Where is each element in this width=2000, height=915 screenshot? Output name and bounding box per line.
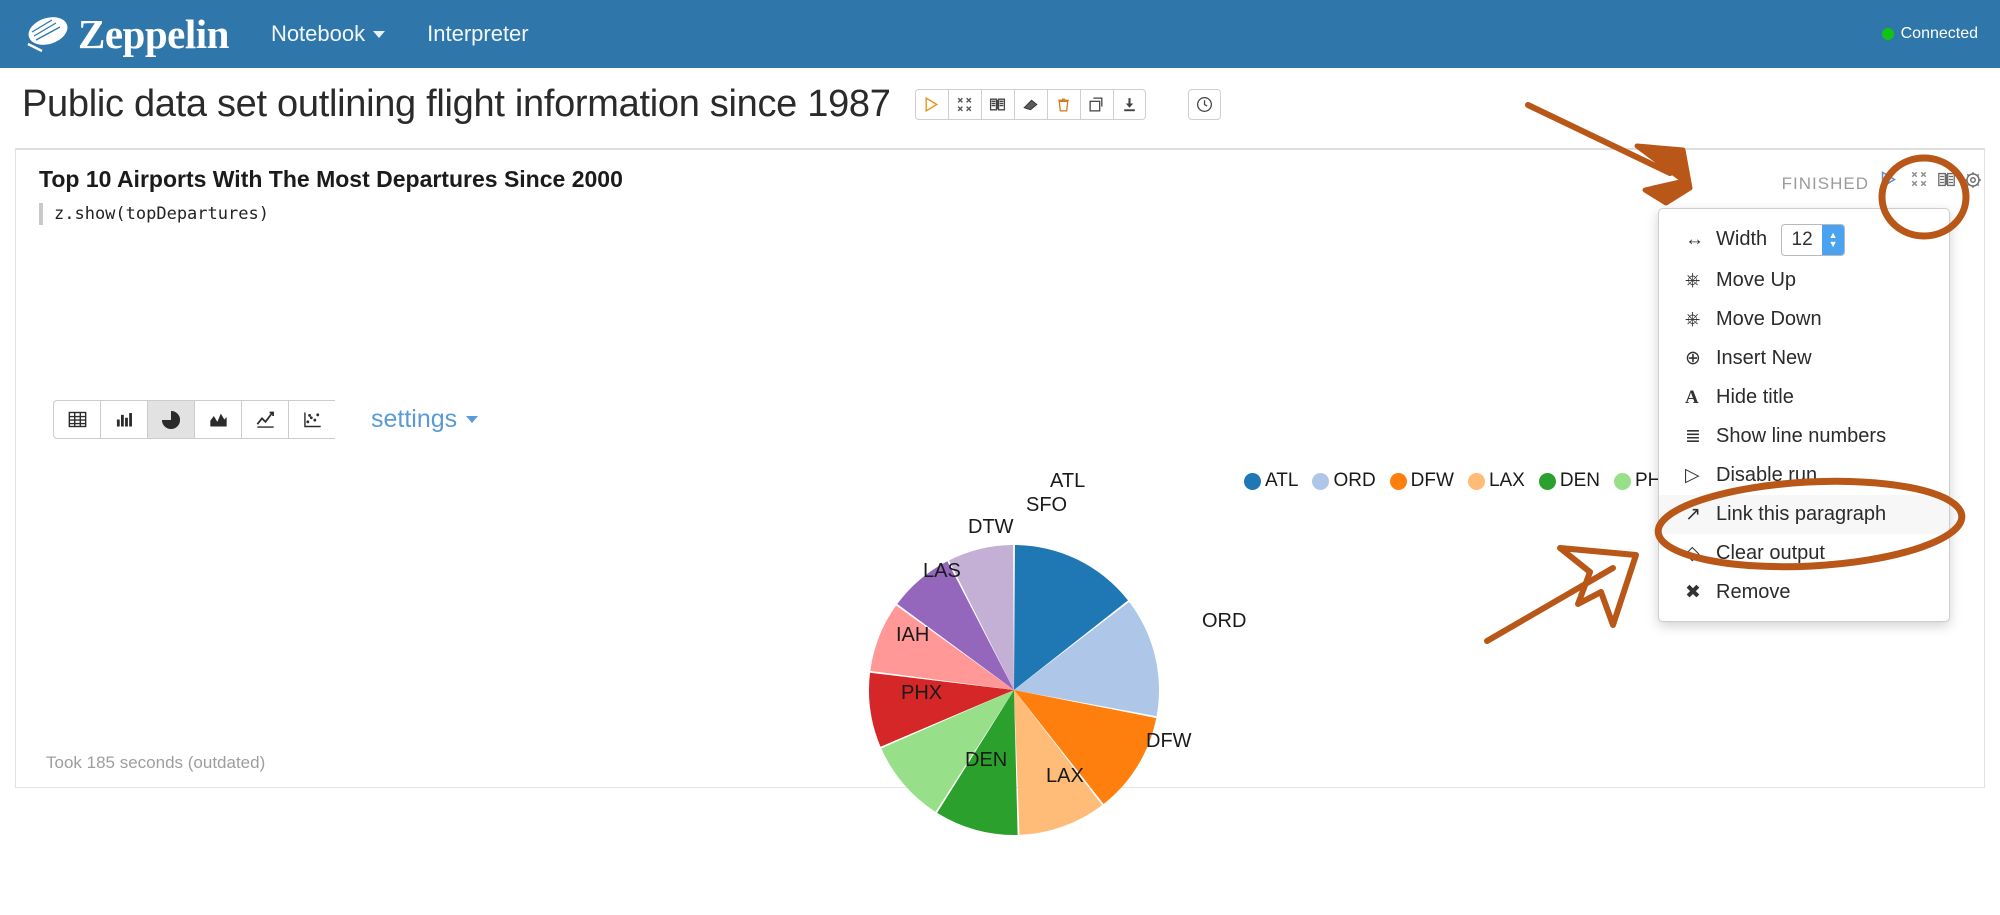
legend-item[interactable]: LAX	[1468, 470, 1525, 492]
chevron-down-icon	[373, 31, 385, 38]
menu-item-label: Link this paragraph	[1716, 503, 1886, 526]
nav-links: Notebook Interpreter	[271, 21, 571, 47]
clone-note-button[interactable]	[1080, 89, 1113, 120]
legend-item[interactable]: ORD	[1312, 470, 1375, 492]
paragraph-run-button[interactable]	[1879, 170, 1898, 189]
menu-item-disable-run[interactable]: ▷ Disable run	[1659, 456, 1949, 495]
collapse-arrows-icon	[956, 96, 973, 113]
scatter-chart-icon	[302, 409, 323, 430]
legend-item[interactable]: DEN	[1539, 470, 1600, 492]
legend-color-swatch	[1539, 473, 1556, 490]
gear-icon	[1963, 170, 1983, 190]
clock-icon	[1195, 95, 1214, 114]
chevron-down-icon	[466, 416, 478, 423]
legend-item-label: DEN	[1560, 470, 1600, 492]
scheduler-button[interactable]	[1188, 89, 1221, 120]
menu-width-row: ↔ Width 12 ▲ ▼	[1659, 218, 1949, 261]
viz-button-pie[interactable]	[147, 400, 194, 439]
run-play-icon	[1879, 170, 1898, 189]
viz-button-scatter[interactable]	[288, 400, 335, 439]
circle-arrow-down-icon: ⎈	[1685, 309, 1711, 331]
code-editor[interactable]: z.show(topDepartures)	[39, 203, 269, 225]
circle-plus-icon: ⊕	[1685, 347, 1711, 370]
width-stepper-value: 12	[1782, 229, 1822, 251]
viz-button-bar[interactable]	[100, 400, 147, 439]
pie-label-lax: LAX	[1046, 765, 1084, 788]
note-toolbar-primary	[915, 89, 1146, 120]
menu-item-remove[interactable]: ✖ Remove	[1659, 573, 1949, 612]
code-line: z.show(topDepartures)	[54, 204, 269, 224]
connection-dot-icon	[1882, 28, 1894, 40]
pie-label-phx: PHX	[901, 682, 942, 705]
code-gutter	[39, 203, 43, 225]
page-title[interactable]: Public data set outlining flight informa…	[22, 83, 891, 126]
zeppelin-app: Zeppelin Notebook Interpreter Connected …	[0, 0, 2000, 807]
stepper-down-icon[interactable]: ▼	[1829, 240, 1838, 249]
run-all-button[interactable]	[915, 89, 948, 120]
menu-item-link-this-paragraph[interactable]: ↗ Link this paragraph	[1659, 495, 1949, 534]
paragraph-settings-button[interactable]	[1963, 170, 1983, 190]
pie-label-las: LAS	[923, 560, 961, 583]
note-toolbar-secondary	[1188, 89, 1221, 120]
menu-item-show-line-numbers[interactable]: ≣ Show line numbers	[1659, 417, 1949, 456]
legend-item-label: ORD	[1333, 470, 1375, 492]
toggle-all-output-button[interactable]	[981, 89, 1014, 120]
menu-width-label: Width	[1716, 228, 1767, 251]
brand[interactable]: Zeppelin	[22, 10, 229, 58]
download-icon	[1121, 96, 1138, 113]
pie-label-dtw: DTW	[968, 516, 1014, 539]
book-icon	[989, 96, 1006, 113]
menu-item-label: Move Up	[1716, 269, 1796, 292]
note-header: Public data set outlining flight informa…	[0, 68, 2000, 140]
menu-item-move-up[interactable]: ⎈ Move Up	[1659, 261, 1949, 300]
remove-note-button[interactable]	[1047, 89, 1080, 120]
menu-item-insert-new[interactable]: ⊕ Insert New	[1659, 339, 1949, 378]
toggle-all-code-button[interactable]	[948, 89, 981, 120]
menu-item-label: Insert New	[1716, 347, 1812, 370]
pie-chart: ATL ORD DFW LAX DEN PHX IAH LAS DTW SFO	[716, 480, 1316, 910]
bar-chart-icon	[114, 409, 135, 430]
nav-item-notebook-label: Notebook	[271, 21, 365, 47]
pie-label-atl: ATL	[1050, 470, 1085, 493]
export-note-button[interactable]	[1113, 89, 1146, 120]
menu-item-label: Disable run	[1716, 464, 1817, 487]
legend-item-label: DFW	[1411, 470, 1454, 492]
pie-chart-svg	[716, 480, 1316, 910]
zeppelin-airship-icon	[22, 14, 70, 54]
top-navbar: Zeppelin Notebook Interpreter Connected	[0, 0, 2000, 68]
viz-button-area[interactable]	[194, 400, 241, 439]
circle-arrow-up-icon: ⎈	[1685, 270, 1711, 292]
trash-icon	[1055, 96, 1072, 113]
menu-item-hide-title[interactable]: A Hide title	[1659, 378, 1949, 417]
arrows-horizontal-icon: ↔	[1685, 229, 1711, 251]
area-chart-icon	[208, 409, 229, 430]
eraser-icon	[1022, 96, 1039, 113]
legend-item-label: LAX	[1489, 470, 1525, 492]
menu-item-label: Remove	[1716, 581, 1790, 604]
paragraph-title[interactable]: Top 10 Airports With The Most Departures…	[39, 166, 623, 193]
visualization-toolbar: settings	[53, 400, 478, 439]
pie-label-dfw: DFW	[1146, 730, 1192, 753]
pie-chart-icon	[160, 409, 182, 431]
list-numbered-icon: ≣	[1685, 425, 1711, 448]
nav-item-interpreter[interactable]: Interpreter	[427, 21, 529, 47]
copy-icon	[1088, 96, 1105, 113]
connection-label: Connected	[1901, 25, 1978, 43]
menu-item-label: Show line numbers	[1716, 425, 1886, 448]
nav-item-interpreter-label: Interpreter	[427, 21, 529, 47]
menu-item-label: Hide title	[1716, 386, 1794, 409]
menu-item-move-down[interactable]: ⎈ Move Down	[1659, 300, 1949, 339]
paragraph-toggle-output-button[interactable]	[1937, 170, 1956, 189]
play-outline-icon: ▷	[1685, 464, 1711, 487]
nav-item-notebook[interactable]: Notebook	[271, 21, 385, 47]
pie-label-iah: IAH	[896, 624, 929, 647]
brand-text: Zeppelin	[78, 10, 229, 58]
viz-button-table[interactable]	[53, 400, 100, 439]
clear-all-output-button[interactable]	[1014, 89, 1047, 120]
eraser-icon: ◇	[1685, 542, 1711, 565]
paragraph-toggle-editor-button[interactable]	[1910, 170, 1928, 188]
width-stepper[interactable]: 12 ▲ ▼	[1781, 224, 1845, 256]
legend-color-swatch	[1390, 473, 1407, 490]
legend-color-swatch	[1468, 473, 1485, 490]
menu-item-label: Move Down	[1716, 308, 1822, 331]
pie-label-sfo: SFO	[1026, 494, 1067, 517]
x-mark-icon: ✖	[1685, 581, 1711, 604]
settings-toggle-label: settings	[371, 405, 457, 434]
width-stepper-buttons[interactable]: ▲ ▼	[1822, 225, 1844, 255]
collapse-arrows-icon	[1910, 170, 1928, 188]
external-link-icon: ↗	[1685, 503, 1711, 526]
menu-item-clear-output[interactable]: ◇ Clear output	[1659, 534, 1949, 573]
book-icon	[1937, 170, 1956, 189]
run-play-icon	[923, 96, 940, 113]
connection-status: Connected	[1882, 0, 1978, 68]
viz-button-line[interactable]	[241, 400, 288, 439]
paragraph-settings-menu: ↔ Width 12 ▲ ▼ ⎈ Move Up ⎈ Move Down ⊕ I…	[1658, 208, 1950, 622]
menu-item-label: Clear output	[1716, 542, 1825, 565]
legend-item[interactable]: DFW	[1390, 470, 1454, 492]
line-chart-icon	[255, 409, 276, 430]
letter-a-icon: A	[1685, 387, 1711, 409]
paragraph-footer-status: Took 185 seconds (outdated)	[46, 753, 265, 773]
pie-label-ord: ORD	[1202, 610, 1246, 633]
status-badge: FINISHED	[1782, 174, 1869, 194]
pie-label-den: DEN	[965, 749, 1007, 772]
legend-color-swatch	[1614, 473, 1631, 490]
settings-toggle[interactable]: settings	[371, 405, 478, 434]
table-icon	[67, 409, 88, 430]
